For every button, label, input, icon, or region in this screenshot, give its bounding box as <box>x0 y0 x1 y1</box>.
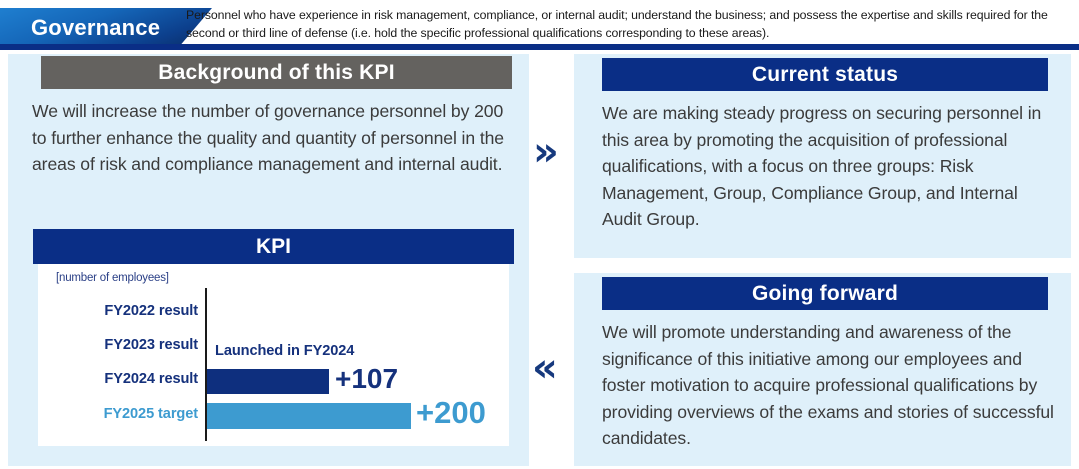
governance-badge-label: Governance <box>31 15 160 41</box>
header-divider-rule <box>0 44 1079 50</box>
kpi-header: KPI <box>33 229 514 264</box>
current-status-panel-body: We are making steady progress on securin… <box>602 100 1052 233</box>
chart-category-label-fy2023: FY2023 result <box>46 337 198 353</box>
going-forward-panel-title: Going forward <box>752 282 898 306</box>
going-forward-panel-header: Going forward <box>602 277 1048 310</box>
page-header: Governance Personnel who have experience… <box>0 0 1079 52</box>
chart-value-fy2025: +200 <box>416 395 486 431</box>
chart-category-label-fy2022: FY2022 result <box>46 303 198 319</box>
chart-annotation-launched: Launched in FY2024 <box>215 343 354 359</box>
current-status-panel: Current status We are making steady prog… <box>574 54 1071 258</box>
background-panel: Background of this KPI We will increase … <box>8 54 529 466</box>
background-panel-body: We will increase the number of governanc… <box>32 98 516 178</box>
chart-bar-fy2025 <box>207 403 411 429</box>
kpi-chart: [number of employees] FY2022 result FY20… <box>38 264 509 446</box>
chevron-right-icon: » <box>533 132 559 172</box>
chart-bar-fy2024 <box>207 369 329 394</box>
current-status-panel-title: Current status <box>752 63 898 87</box>
chart-category-label-fy2024: FY2024 result <box>46 371 198 387</box>
background-panel-title: Background of this KPI <box>158 61 395 85</box>
header-description: Personnel who have experience in risk ma… <box>186 7 1074 42</box>
kpi-governance-slide: Governance Personnel who have experience… <box>0 0 1079 469</box>
background-panel-header: Background of this KPI <box>41 56 512 89</box>
chart-axis-caption: [number of employees] <box>56 272 169 284</box>
going-forward-panel: Going forward We will promote understand… <box>574 273 1071 466</box>
chart-value-fy2024: +107 <box>335 363 398 395</box>
chart-category-label-fy2025: FY2025 target <box>46 406 198 422</box>
kpi-title: KPI <box>256 235 291 259</box>
going-forward-panel-body: We will promote understanding and awaren… <box>602 319 1054 452</box>
governance-badge: Governance <box>0 8 212 48</box>
chevron-left-icon: « <box>532 348 558 388</box>
current-status-panel-header: Current status <box>602 58 1048 91</box>
kpi-block: KPI [number of employees] FY2022 result … <box>33 229 514 446</box>
